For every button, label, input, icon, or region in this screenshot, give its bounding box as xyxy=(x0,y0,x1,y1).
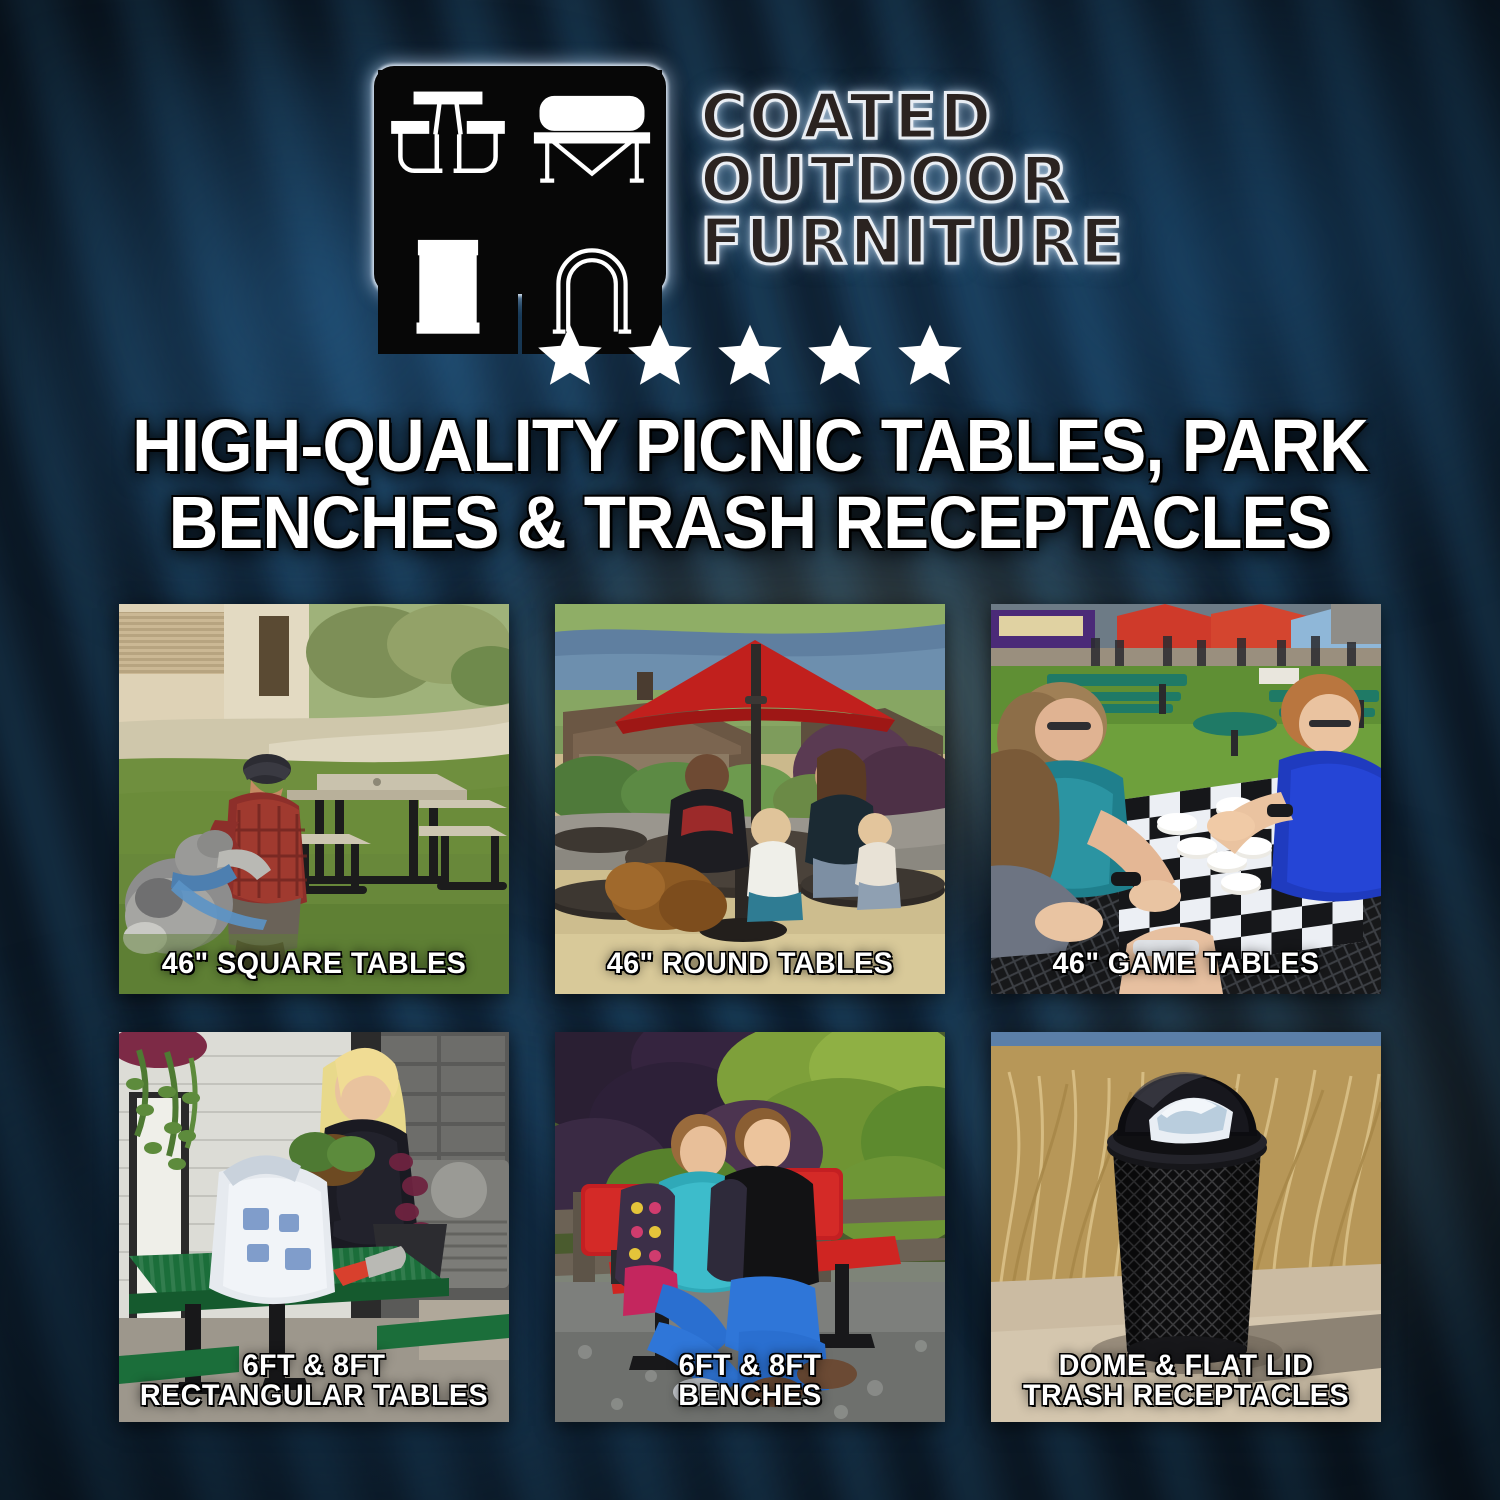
product-photo-round-tables xyxy=(555,604,945,994)
caption-line-1: 6FT & 8FT xyxy=(563,1351,937,1382)
product-caption: 46" ROUND TABLES xyxy=(563,949,937,980)
caption-line-1: 46" GAME TABLES xyxy=(999,949,1373,980)
star-icon xyxy=(534,320,606,392)
product-caption: 6FT & 8FT BENCHES xyxy=(563,1351,937,1412)
product-card-square-tables[interactable]: 46" SQUARE TABLES xyxy=(119,604,509,994)
brand-logo: COATED OUTDOOR FURNITURE xyxy=(0,0,1500,294)
product-caption: DOME & FLAT LID TRASH RECEPTACLES xyxy=(999,1351,1373,1412)
product-caption: 46" SQUARE TABLES xyxy=(127,949,501,980)
star-icon xyxy=(714,320,786,392)
picnic-table-icon xyxy=(378,70,518,210)
product-caption: 6FT & 8FT RECTANGULAR TABLES xyxy=(127,1351,501,1412)
caption-line-1: 46" SQUARE TABLES xyxy=(127,949,501,980)
star-icon xyxy=(624,320,696,392)
product-photo-square-tables xyxy=(119,604,509,994)
product-caption: 46" GAME TABLES xyxy=(999,949,1373,980)
product-photo-game-tables xyxy=(991,604,1381,994)
product-grid: 46" SQUARE TABLES xyxy=(119,604,1381,1422)
product-card-trash-receptacles[interactable]: DOME & FLAT LID TRASH RECEPTACLES xyxy=(991,1032,1381,1422)
product-card-benches[interactable]: 6FT & 8FT BENCHES xyxy=(555,1032,945,1422)
caption-line-2: TRASH RECEPTACLES xyxy=(999,1381,1373,1412)
wordmark-line-3: FURNITURE xyxy=(700,212,1125,273)
product-card-game-tables[interactable]: 46" GAME TABLES xyxy=(991,604,1381,994)
logo-icon-grid xyxy=(374,66,666,294)
wordmark-line-1: COATED xyxy=(700,87,1125,148)
bench-icon xyxy=(522,70,662,210)
caption-line-2: RECTANGULAR TABLES xyxy=(127,1381,501,1412)
wordmark-line-2: OUTDOOR xyxy=(700,150,1125,211)
caption-line-2: BENCHES xyxy=(563,1381,937,1412)
star-icon xyxy=(804,320,876,392)
brand-wordmark: COATED OUTDOOR FURNITURE xyxy=(700,87,1125,273)
trash-receptacle-icon xyxy=(378,214,518,354)
page-headline: HIGH-QUALITY PICNIC TABLES, PARK BENCHES… xyxy=(127,408,1373,562)
caption-line-1: DOME & FLAT LID xyxy=(999,1351,1373,1382)
headline-line-1: HIGH-QUALITY PICNIC TABLES, PARK xyxy=(127,408,1373,485)
product-card-rectangular-tables[interactable]: 6FT & 8FT RECTANGULAR TABLES xyxy=(119,1032,509,1422)
caption-line-1: 46" ROUND TABLES xyxy=(563,949,937,980)
caption-line-1: 6FT & 8FT xyxy=(127,1351,501,1382)
product-card-round-tables[interactable]: 46" ROUND TABLES xyxy=(555,604,945,994)
star-icon xyxy=(894,320,966,392)
star-rating xyxy=(0,320,1500,392)
headline-line-2: BENCHES & TRASH RECEPTACLES xyxy=(127,485,1373,562)
